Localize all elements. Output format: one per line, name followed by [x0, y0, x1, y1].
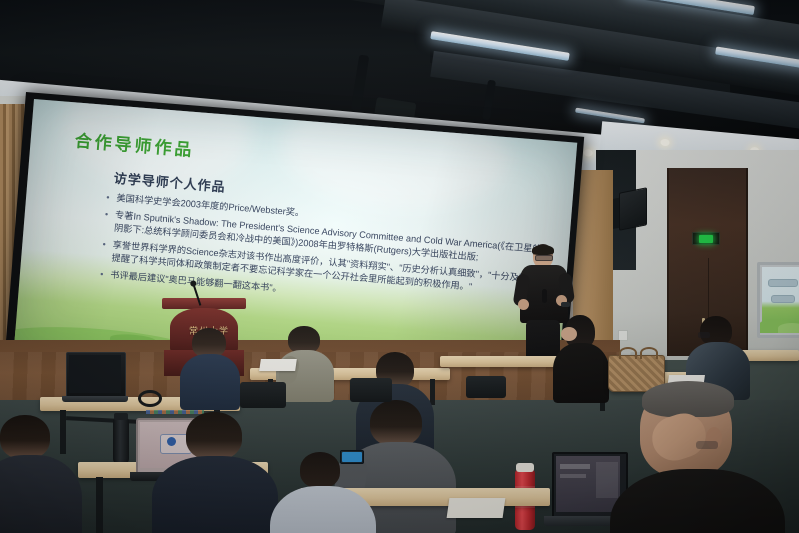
chair[interactable] — [350, 378, 392, 402]
laptop-dock — [146, 410, 204, 414]
eyeglasses — [696, 441, 718, 449]
headphones — [138, 390, 162, 407]
bullet-icon: • — [101, 238, 106, 264]
hair — [642, 381, 734, 417]
table-leg — [430, 379, 435, 405]
wall-monitor — [757, 262, 799, 338]
handheld-microphone — [542, 289, 547, 303]
bullet-icon: • — [100, 268, 104, 281]
papers — [447, 498, 506, 518]
downlight-icon — [660, 139, 670, 147]
wristwatch — [561, 302, 570, 307]
wall-speaker — [619, 187, 647, 230]
bullet-icon: • — [106, 191, 110, 204]
papers — [259, 359, 297, 371]
table-leg — [60, 410, 66, 454]
chair[interactable] — [466, 376, 506, 398]
bullet-icon: • — [103, 208, 108, 234]
lecture-hall-photo: 合作导师作品 访学导师个人作品 • 美国科学史学会2003年度的Price/We… — [0, 0, 799, 533]
table-leg — [96, 477, 103, 533]
exit-sign-icon — [692, 232, 720, 245]
water-bottle[interactable] — [113, 418, 129, 464]
ceiling-pipe — [351, 55, 370, 112]
bottle-cap — [114, 413, 128, 420]
chair[interactable] — [240, 382, 286, 408]
smartphone[interactable] — [340, 450, 364, 464]
ceiling-pipe — [482, 80, 496, 121]
downlight-icon — [583, 149, 593, 157]
bottle-cap — [516, 463, 534, 472]
